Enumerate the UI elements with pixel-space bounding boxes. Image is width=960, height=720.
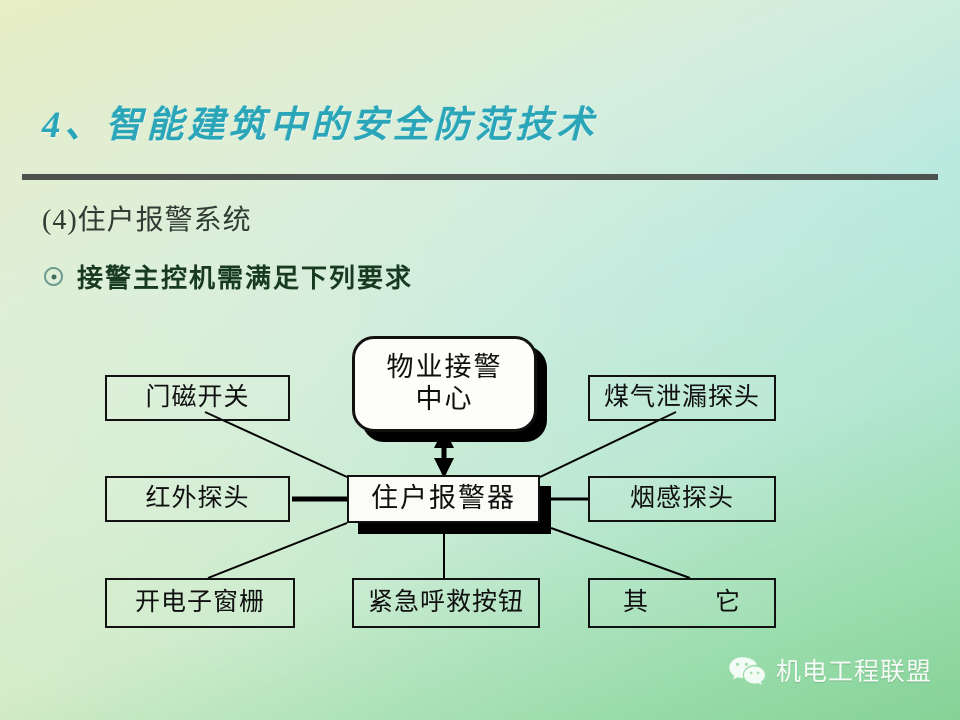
node-emergency-call-button[interactable]: 紧急呼救按钮 xyxy=(352,578,540,628)
node-label-line1: 物业接警 xyxy=(387,352,503,384)
node-label: 煤气泄漏探头 xyxy=(604,383,760,413)
connector-electronic-shutter xyxy=(208,523,347,578)
node-label: 门磁开关 xyxy=(145,383,249,413)
connector-other xyxy=(551,528,690,578)
node-label-b: 它 xyxy=(715,588,741,618)
node-gas-leak-detector[interactable]: 煤气泄漏探头 xyxy=(588,375,776,421)
node-label-line2: 中心 xyxy=(416,384,474,416)
wechat-icon xyxy=(728,655,766,685)
node-label: 开电子窗栅 xyxy=(135,588,265,618)
node-resident-alarm-unit[interactable]: 住户报警器 xyxy=(347,475,540,523)
node-electronic-shutter[interactable]: 开电子窗栅 xyxy=(105,578,295,628)
node-smoke-detector[interactable]: 烟感探头 xyxy=(588,476,776,522)
node-label: 红外探头 xyxy=(145,484,249,514)
node-label: 住户报警器 xyxy=(371,483,516,515)
node-label-a: 其 xyxy=(623,588,649,618)
node-infrared-detector[interactable]: 红外探头 xyxy=(105,476,290,522)
slide-canvas: 4、智能建筑中的安全防范技术 (4)住户报警系统 接警主控机需满足下列要求 xyxy=(0,0,960,720)
node-door-magnetic-switch[interactable]: 门磁开关 xyxy=(105,375,290,421)
watermark: 机电工程联盟 xyxy=(728,652,932,688)
node-label: 烟感探头 xyxy=(630,484,734,514)
connector-door-magnetic-switch xyxy=(205,412,347,477)
node-other[interactable]: 其 它 xyxy=(588,578,776,628)
watermark-text: 机电工程联盟 xyxy=(776,652,932,688)
node-property-alarm-center[interactable]: 物业接警 中心 xyxy=(352,336,537,432)
alarm-system-diagram: 物业接警 中心 住户报警器 门磁开关 煤气泄漏探头 红外探头 烟感探头 开电子窗… xyxy=(0,0,960,720)
connector-gas-leak-detector xyxy=(540,412,676,477)
node-label: 紧急呼救按钮 xyxy=(368,588,524,618)
